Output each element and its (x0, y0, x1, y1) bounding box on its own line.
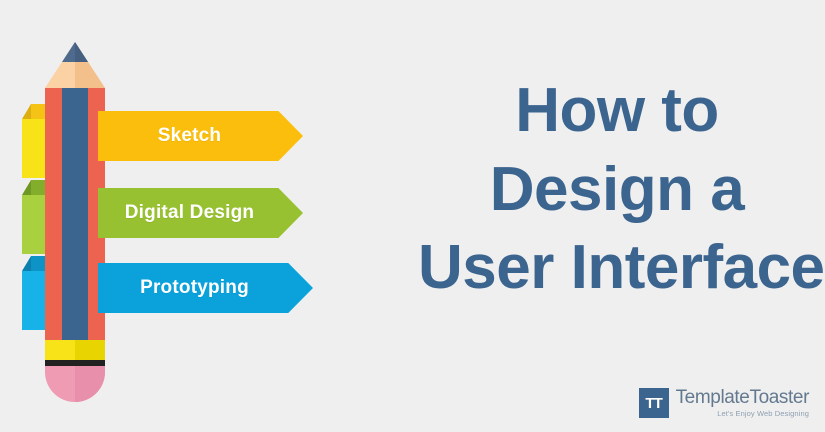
step-banner-sketch[interactable]: Sketch (98, 111, 303, 161)
logo-word-second: Toaster (749, 387, 809, 408)
step-banner-prototyping[interactable]: Prototyping (98, 263, 313, 313)
headline-line-3: User Interface (418, 229, 816, 308)
logo-text: TemplateToaster Let's Enjoy Web Designin… (676, 388, 809, 418)
pencil-eraser-icon (45, 366, 105, 402)
logo-mark-icon: TT (639, 388, 669, 418)
headline-line-2: Design a (418, 151, 816, 230)
step-label-digital-design: Digital Design (125, 202, 254, 224)
pencil-body-icon (45, 88, 105, 340)
logo-mark-letters: TT (645, 396, 661, 411)
logo-tagline: Let's Enjoy Web Designing (676, 410, 809, 418)
step-label-prototyping: Prototyping (140, 277, 249, 299)
pencil-ferrule-icon (45, 340, 105, 366)
poster-canvas: Sketch Digital Design Prototyping How to… (0, 0, 825, 432)
pencil-tip-icon (45, 42, 105, 88)
headline-line-1: How to (418, 72, 816, 151)
brand-logo[interactable]: TT TemplateToaster Let's Enjoy Web Desig… (639, 388, 809, 418)
step-label-sketch: Sketch (158, 125, 222, 147)
logo-wordmark: TemplateToaster (676, 388, 809, 407)
page-title: How to Design a User Interface (418, 72, 816, 308)
step-banner-digital-design[interactable]: Digital Design (98, 188, 303, 238)
logo-word-first: Template (676, 387, 750, 408)
